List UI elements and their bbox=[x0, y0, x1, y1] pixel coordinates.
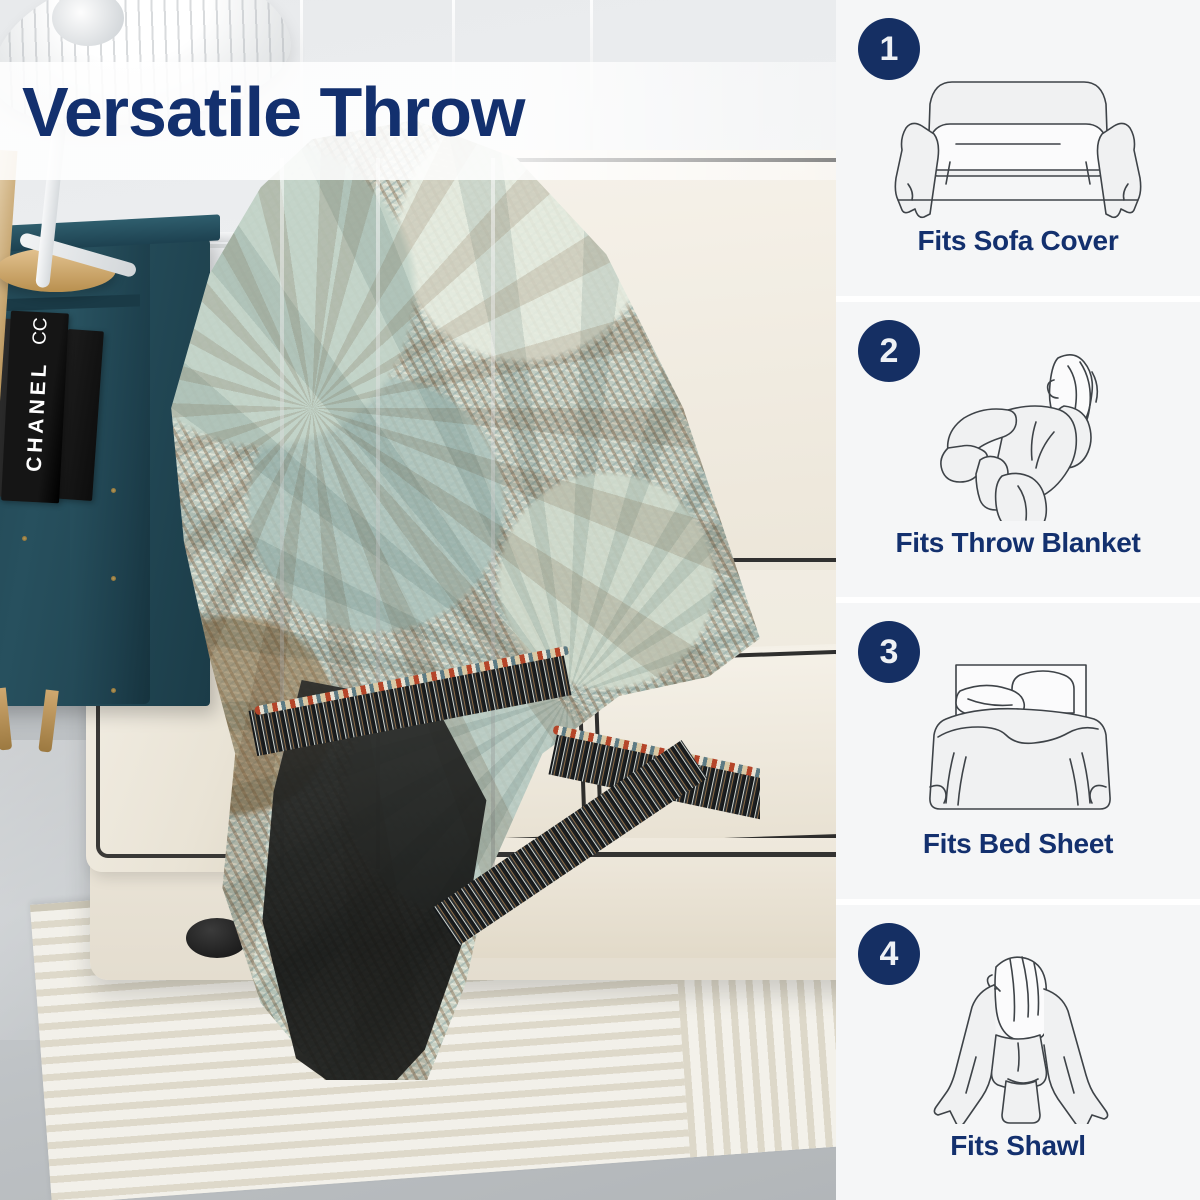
book-chanel: CC CHANEL bbox=[1, 311, 69, 504]
nightstand-screw bbox=[111, 688, 116, 693]
use-case-list: 1 Fits Sofa Cover 2 bbox=[836, 0, 1200, 1200]
book-chanel-label: CHANEL bbox=[21, 326, 54, 504]
nightstand-screw bbox=[111, 576, 116, 581]
step-number-badge: 4 bbox=[858, 923, 920, 985]
infographic-page: YSL CC CHANEL bbox=[0, 0, 1200, 1200]
nightstand-screw bbox=[22, 536, 27, 541]
step-number-badge: 2 bbox=[858, 320, 920, 382]
step-fits-shawl[interactable]: 4 Fits S bbox=[836, 905, 1200, 1200]
step-fits-sofa-cover[interactable]: 1 Fits Sofa Cover bbox=[836, 0, 1200, 296]
step-number-badge: 1 bbox=[858, 18, 920, 80]
step-fits-throw-blanket[interactable]: 2 Fits T bbox=[836, 302, 1200, 598]
nightstand-screw bbox=[111, 488, 116, 493]
step-number-badge: 3 bbox=[858, 621, 920, 683]
step-fits-bed-sheet[interactable]: 3 Fits Bed Sheet bbox=[836, 603, 1200, 899]
step-label: Fits Shawl bbox=[950, 1130, 1085, 1162]
step-label: Fits Sofa Cover bbox=[918, 225, 1119, 257]
throw-fold bbox=[491, 158, 495, 868]
product-photo: YSL CC CHANEL bbox=[0, 0, 836, 1200]
tapestry-throw bbox=[120, 120, 760, 1080]
step-label: Fits Bed Sheet bbox=[923, 828, 1113, 860]
page-title: Versatile Throw bbox=[22, 72, 524, 152]
step-label: Fits Throw Blanket bbox=[895, 527, 1140, 559]
